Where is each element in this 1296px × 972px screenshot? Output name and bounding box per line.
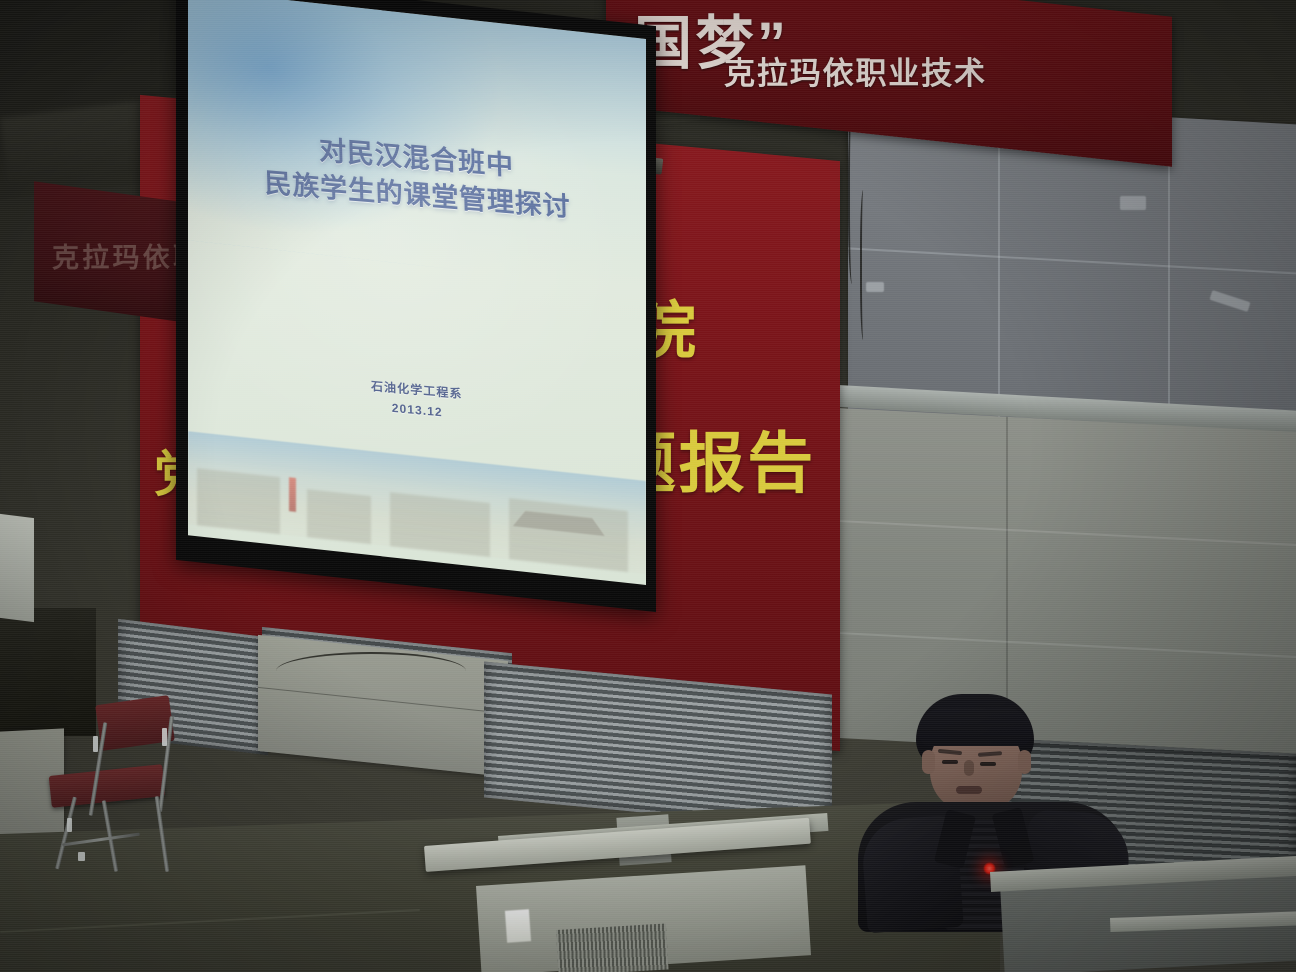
panel-seam: [998, 108, 1000, 420]
hair-fringe: [918, 708, 1032, 746]
eye-left: [942, 760, 958, 764]
chair-brace: [62, 833, 140, 847]
lectern-highlight: [505, 909, 531, 943]
slide-photo-strip: [188, 432, 646, 575]
chair-highlight: [78, 852, 85, 861]
photo-building: [307, 489, 371, 544]
projection-screen[interactable]: 对民汉混合班中 民族学生的课堂管理探讨 石油化学工程系 2013.12: [176, 0, 656, 612]
mouth: [956, 786, 982, 794]
wall-bracket: [1120, 196, 1146, 210]
banner-top-line2: 克拉玛依职业技术: [724, 48, 987, 93]
chair-highlight: [67, 818, 72, 832]
eye-right: [980, 762, 996, 766]
folding-chair[interactable]: [36, 700, 186, 890]
side-board: [0, 514, 34, 622]
wall-seam: [836, 520, 1296, 546]
chair-highlight: [93, 736, 98, 752]
photo-building: [390, 492, 491, 557]
ear-right: [1018, 750, 1031, 774]
panel-seam: [848, 247, 1296, 274]
lectern-vent: [556, 923, 669, 972]
photo-building: [197, 468, 279, 534]
wall-seam: [836, 632, 1296, 658]
slide-subtitle: 石油化学工程系 2013.12: [188, 360, 646, 441]
ear-left: [922, 750, 935, 774]
chair-highlight: [162, 728, 167, 746]
cable: [276, 652, 466, 690]
photo-monument: [289, 477, 296, 512]
floor-seam: [0, 909, 420, 933]
chair-seat: [49, 764, 166, 808]
cable: [860, 190, 868, 340]
photo-building: [509, 498, 628, 572]
cabinet-seam: [258, 687, 508, 714]
chair-leg: [55, 797, 77, 870]
screen-surface: 对民汉混合班中 民族学生的课堂管理探讨 石油化学工程系 2013.12: [188, 0, 646, 585]
wall-bracket: [866, 282, 884, 292]
lecture-hall-photo: 院 题报告 党 克拉玛依职业 国梦” 会 克拉玛依职业技术 对民汉混合班中 民族…: [0, 0, 1296, 972]
nose: [964, 760, 974, 776]
